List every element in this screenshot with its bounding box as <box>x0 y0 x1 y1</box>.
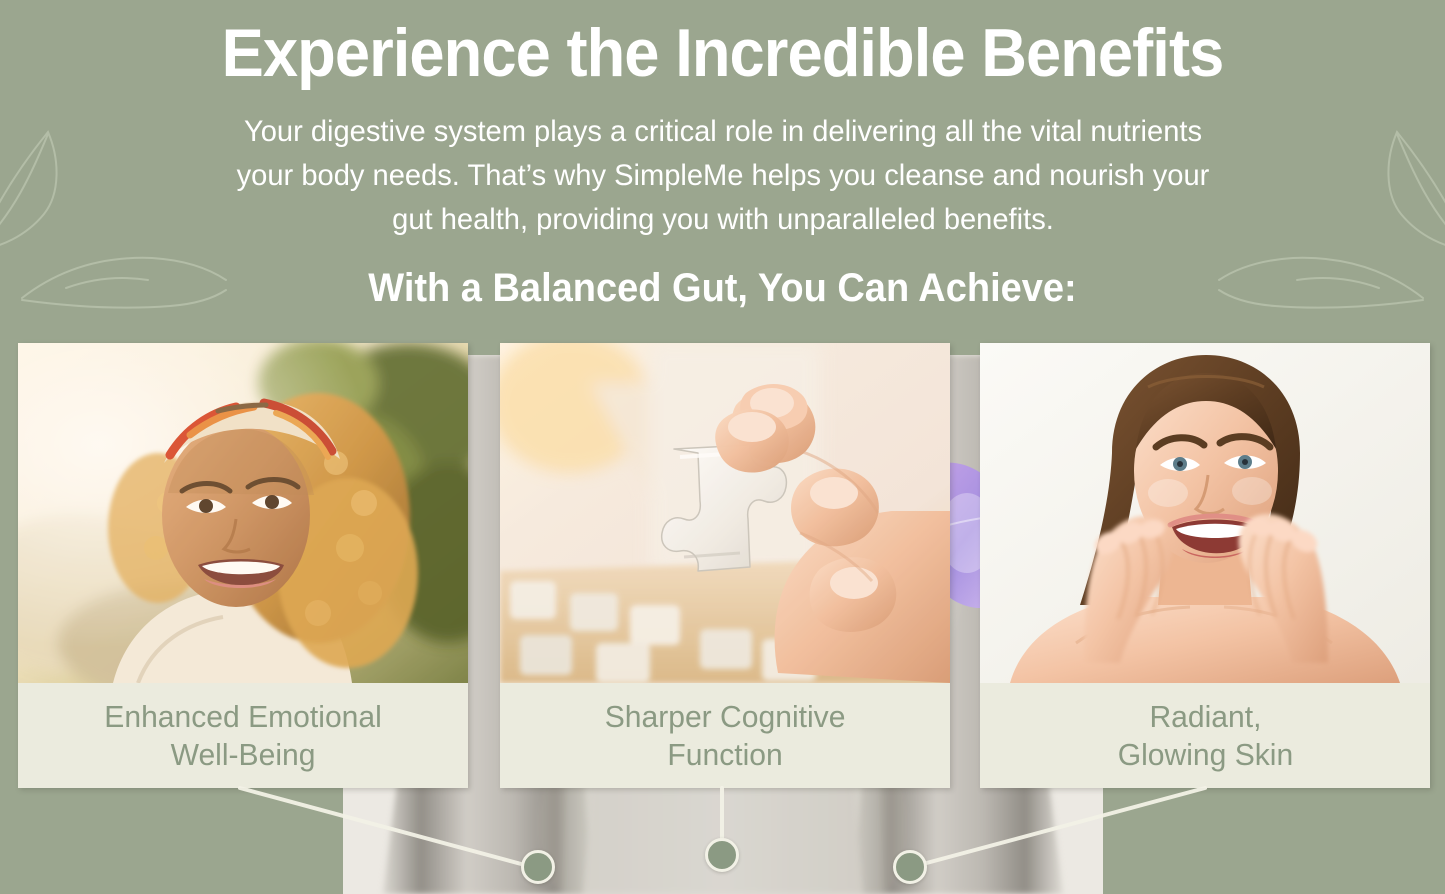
header-block: Experience the Incredible Benefits Your … <box>0 0 1445 312</box>
benefit-cards-row: Enhanced Emotional Well-Being <box>0 343 1445 788</box>
infographic-canvas: Experience the Incredible Benefits Your … <box>0 0 1445 894</box>
benefit-card-glowing-skin[interactable]: Radiant, Glowing Skin <box>980 343 1430 788</box>
smiling-woman-headband-outdoors-photo <box>18 343 468 683</box>
connector-lines <box>0 760 1445 894</box>
intro-paragraph: Your digestive system plays a critical r… <box>160 110 1285 242</box>
connector-line-left <box>240 788 536 868</box>
benefit-card-emotional-wellbeing[interactable]: Enhanced Emotional Well-Being <box>18 343 468 788</box>
connector-dot-cognitive-function <box>705 838 739 872</box>
caption-line-1: Enhanced Emotional <box>93 699 394 734</box>
connector-dot-emotional-wellbeing <box>521 850 555 884</box>
section-subtitle: With a Balanced Gut, You Can Achieve: <box>36 264 1409 312</box>
connector-line-right <box>908 788 1205 868</box>
caption-line-1: Radiant, <box>1137 699 1272 734</box>
caption-line-1: Sharper Cognitive <box>593 699 857 734</box>
connector-dot-glowing-skin <box>893 850 927 884</box>
connector-group <box>0 760 1445 894</box>
intro-line-2: your body needs. That’s why SimpleMe hel… <box>160 154 1285 198</box>
intro-line-1: Your digestive system plays a critical r… <box>160 110 1285 154</box>
intro-line-3: gut health, providing you with unparalle… <box>160 198 1285 242</box>
benefit-card-cognitive-function[interactable]: Sharper Cognitive Function <box>500 343 950 788</box>
woman-glowing-skin-hands-face-photo <box>980 343 1430 683</box>
hand-holding-puzzle-piece-photo <box>500 343 950 683</box>
page-title: Experience the Incredible Benefits <box>51 0 1395 92</box>
